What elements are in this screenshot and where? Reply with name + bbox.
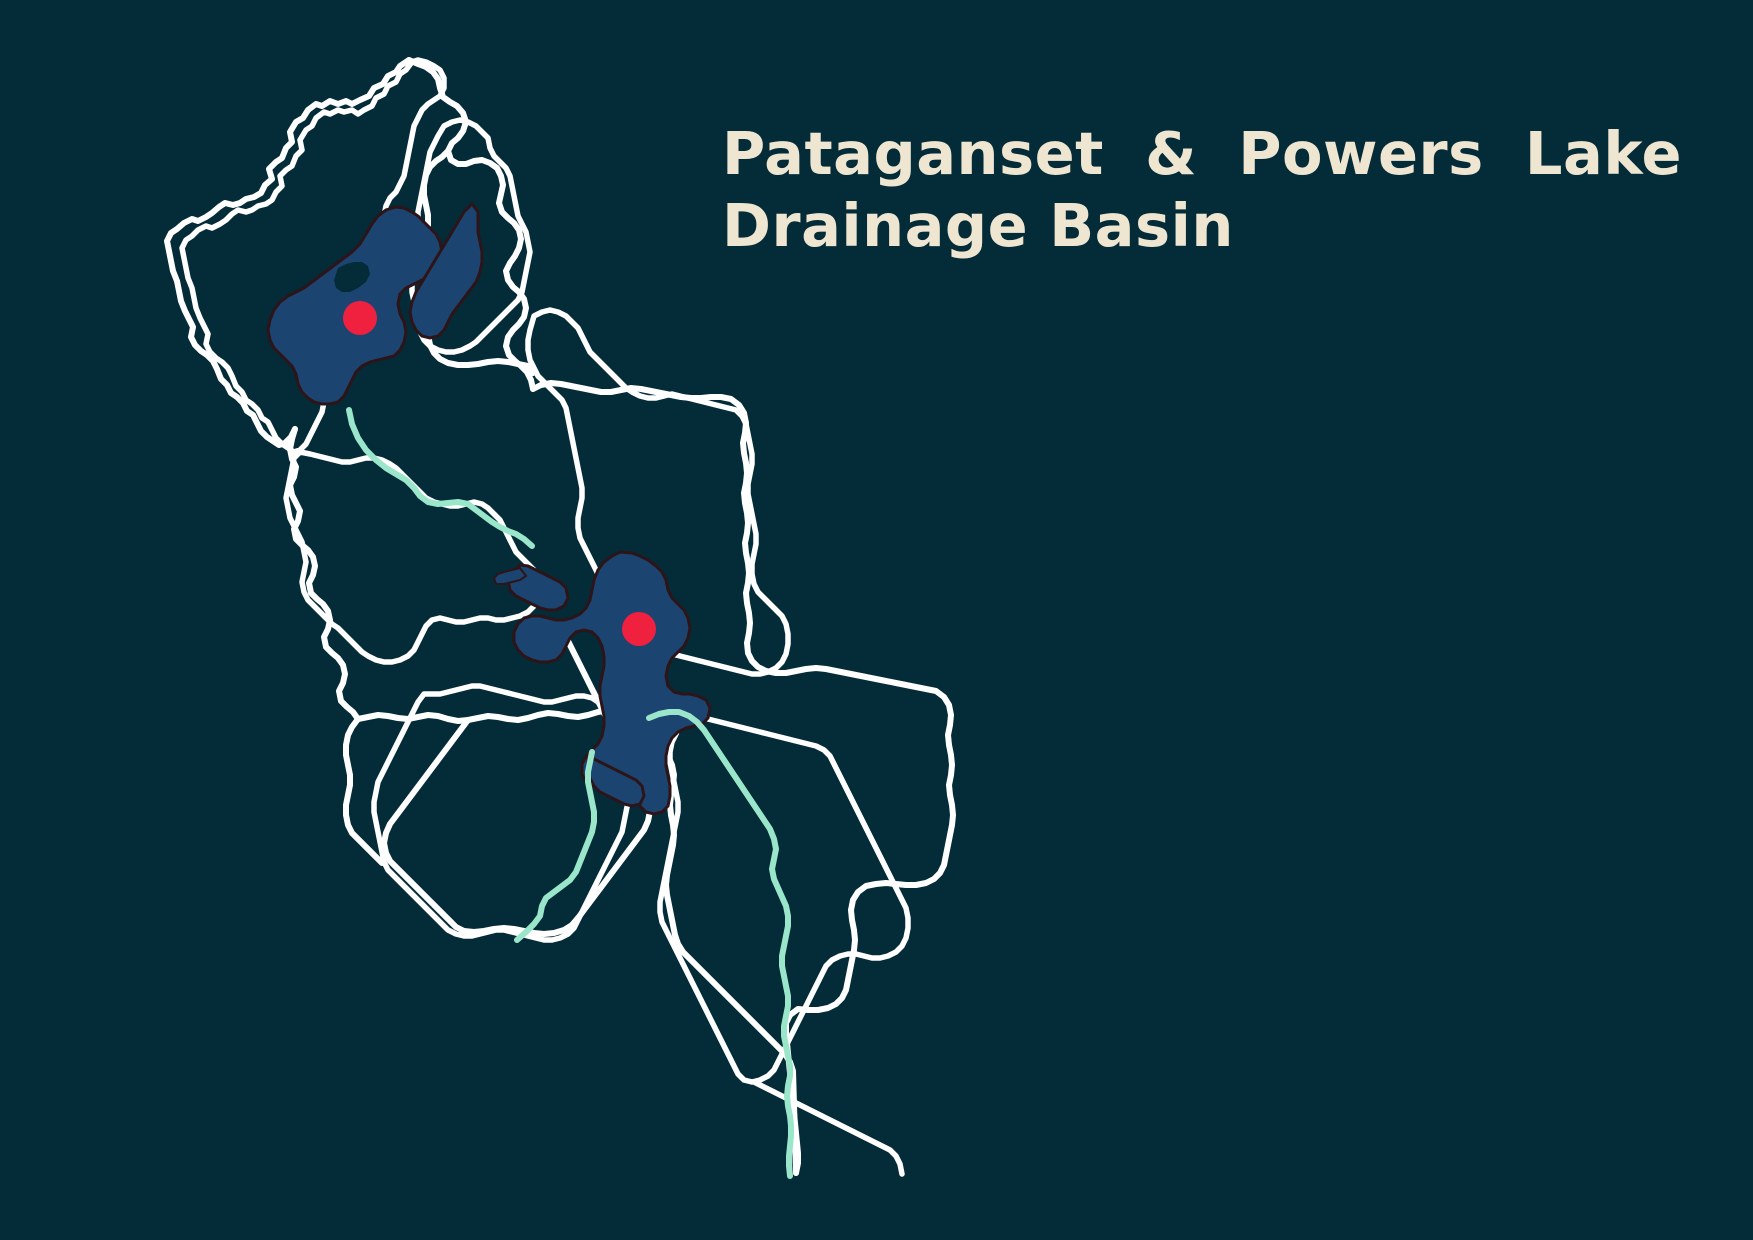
- map-title-line-1: Pataganset & Powers Lake: [722, 118, 1682, 190]
- map-title-line-2: Drainage Basin: [722, 190, 1682, 262]
- powers-lake-marker[interactable]: [343, 301, 377, 335]
- basin-outlet-subbasin: [754, 1082, 902, 1174]
- ridge-west-long: [290, 429, 358, 719]
- ridge-lower-left: [384, 720, 578, 934]
- map-canvas: Pataganset & Powers Lake Drainage Basin: [0, 0, 1753, 1240]
- map-title: Pataganset & Powers Lake Drainage Basin: [722, 118, 1682, 262]
- ridge-mid-cross: [358, 710, 638, 721]
- pataganset-lake-marker[interactable]: [622, 612, 656, 646]
